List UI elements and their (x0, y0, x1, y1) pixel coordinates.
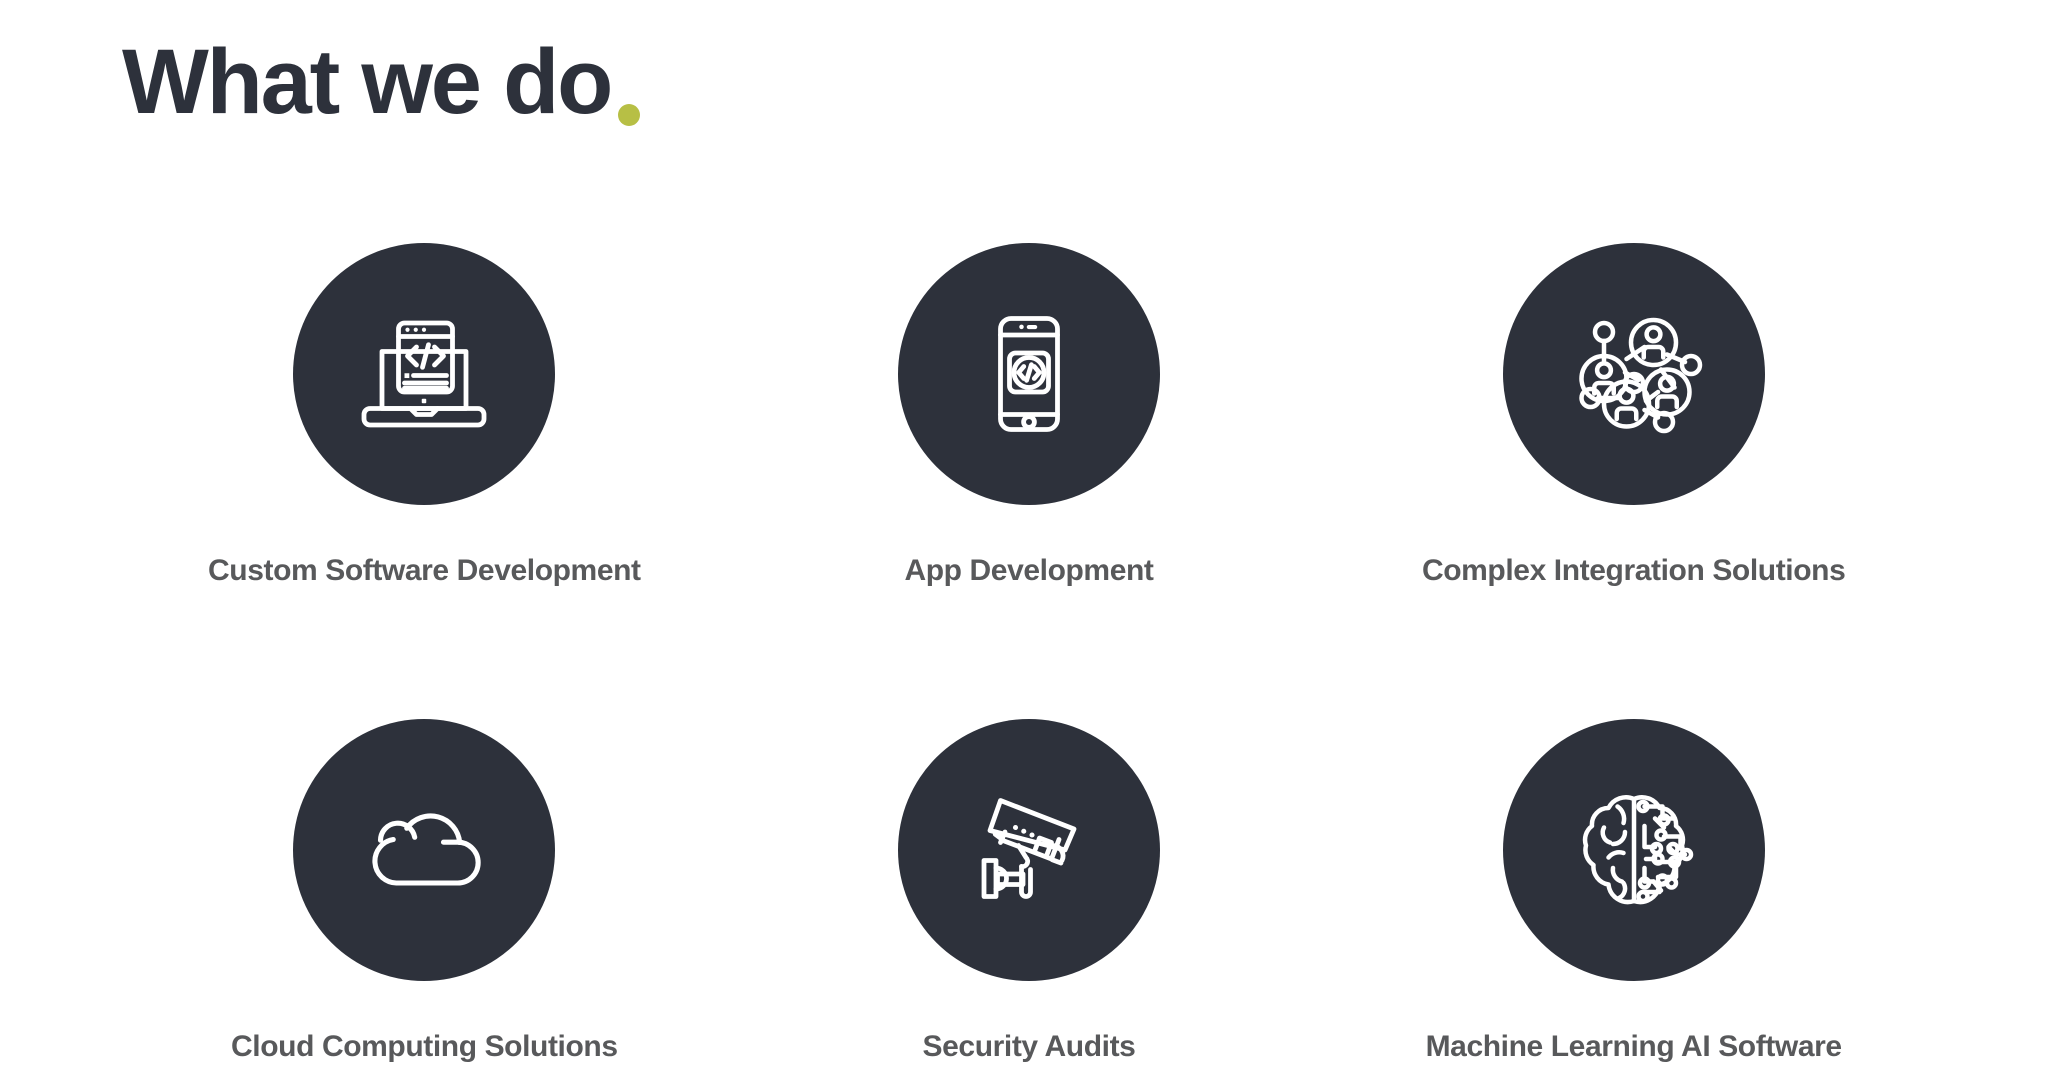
icon-badge (898, 719, 1160, 981)
service-card-machine-learning-ai-software-solutions[interactable]: Machine Learning AI Software Solutions (1331, 719, 1936, 1072)
icon-badge (1503, 243, 1765, 505)
icon-badge (293, 719, 555, 981)
what-we-do-section: What we do (0, 0, 2058, 1072)
service-card-custom-software-development[interactable]: Custom Software Development (122, 243, 727, 591)
service-label: Cloud Computing Solutions (231, 1027, 618, 1067)
service-label: Machine Learning AI Software Solutions (1404, 1027, 1864, 1072)
service-card-app-development[interactable]: App Development (727, 243, 1332, 591)
icon-badge (293, 243, 555, 505)
user-network-icon (1559, 299, 1709, 449)
cloud-icon (349, 775, 499, 925)
service-label: Complex Integration Solutions (1422, 551, 1845, 591)
services-grid: Custom Software Development (122, 243, 1936, 1072)
laptop-code-icon (349, 299, 499, 449)
icon-badge (898, 243, 1160, 505)
accent-dot-icon (618, 104, 640, 126)
mobile-code-icon (954, 299, 1104, 449)
service-label: Security Audits (923, 1027, 1136, 1067)
cctv-camera-icon (954, 775, 1104, 925)
icon-badge (1503, 719, 1765, 981)
page-title: What we do (122, 34, 640, 131)
service-label: App Development (904, 551, 1153, 591)
brain-circuit-icon (1559, 775, 1709, 925)
service-card-cloud-computing-solutions[interactable]: Cloud Computing Solutions (122, 719, 727, 1072)
page-title-text: What we do (122, 34, 611, 131)
service-card-complex-integration-solutions[interactable]: Complex Integration Solutions (1331, 243, 1936, 591)
service-label: Custom Software Development (208, 551, 641, 591)
service-card-security-audits[interactable]: Security Audits (727, 719, 1332, 1072)
